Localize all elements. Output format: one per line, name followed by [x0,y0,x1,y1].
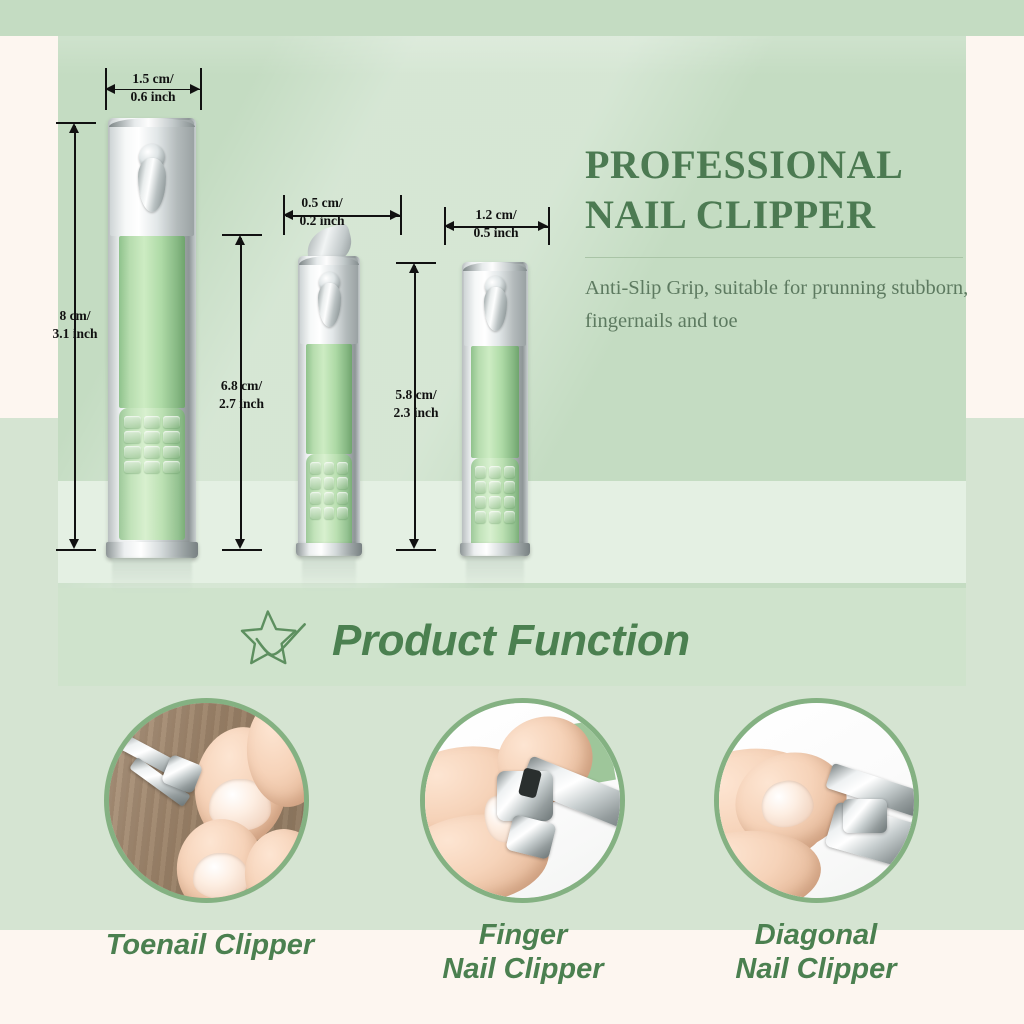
clipper-1-base [106,542,198,558]
dim3-h-line [414,266,416,544]
caption-finger-nail-clipper: Finger Nail Clipper [388,918,658,986]
title-divider [585,257,963,258]
clipper-3-grip-dots [471,466,519,523]
dim1-h-line [74,126,76,544]
photo3-clipper-head [843,799,887,833]
dim2-h-line [240,238,242,544]
dim2-h-arrow-up-icon [235,235,245,245]
dim2-w-arrow-left-icon [283,210,293,220]
clipper-1-grip-dots [119,416,185,473]
dim1-w-arrow-right-icon [190,84,200,94]
photo-diagonal-nail-clipper[interactable] [714,698,919,903]
product-function-title: Product Function [332,616,690,666]
dimension-width-label-3: 1.2 cm/ 0.5 inch [448,206,544,242]
clipper-2-reflection [302,556,356,590]
clipper-illustration-1 [108,118,196,558]
caption-diagonal-nail-clipper: Diagonal Nail Clipper [680,918,952,986]
star-check-icon [240,606,314,676]
dim1-w-tick-right [200,68,202,110]
product-function-header: Product Function [240,604,800,678]
caption-toenail-clipper: Toenail Clipper [60,928,360,962]
clipper-3-reflection [466,556,524,590]
dim1-h-tick-bottom [56,549,96,551]
clipper-1-grip-textured [119,408,185,540]
dim3-h-tick-bottom [396,549,436,551]
dim3-h-arrow-up-icon [409,263,419,273]
dim2-h-tick-bottom [222,549,262,551]
right-green-accent-lower [966,662,1024,930]
photo-finger-nail-clipper[interactable] [420,698,625,903]
dim1-w-line [108,89,200,91]
clipper-2-grip-dots [306,462,352,519]
dim1-h-arrow-down-icon [69,539,79,549]
left-green-accent-lower [0,662,58,930]
title-line-1: PROFESSIONAL [585,142,903,187]
page-title: PROFESSIONAL NAIL CLIPPER [585,140,985,241]
dim2-h-arrow-down-icon [235,539,245,549]
clipper-1-grip-upper [119,236,185,408]
right-green-accent-upper [966,418,1024,662]
top-green-band [0,0,1024,36]
clipper-2-grip-upper [306,344,352,454]
clipper-1-reflection [112,558,192,592]
photo1-toenail-3 [193,853,249,899]
dim3-w-line [447,226,548,228]
dimension-height-label-3: 5.8 cm/ 2.3 inch [368,386,464,422]
clipper-2-grip-textured [306,454,352,546]
dim2-w-tick-right [400,195,402,235]
clipper-illustration-3 [462,262,528,556]
dim3-w-arrow-right-icon [538,221,548,231]
dim1-w-arrow-left-icon [105,84,115,94]
dim3-w-arrow-left-icon [444,221,454,231]
dim2-w-line [286,215,400,217]
title-line-2: NAIL CLIPPER [585,192,876,237]
clipper-3-base [460,543,530,556]
left-green-accent-upper [0,418,58,662]
dim2-w-arrow-right-icon [390,210,400,220]
dim3-w-tick-right [548,207,550,245]
clipper-illustration-2 [298,256,360,556]
dim1-h-arrow-up-icon [69,123,79,133]
clipper-2-base [296,543,362,556]
infographic-canvas: PROFESSIONAL NAIL CLIPPER Anti-Slip Grip… [0,0,1024,1024]
clipper-3-grip-textured [471,458,519,546]
dim3-h-arrow-down-icon [409,539,419,549]
hero-headline-block: PROFESSIONAL NAIL CLIPPER Anti-Slip Grip… [585,140,985,338]
hero-subtitle: Anti-Slip Grip, suitable for prunning st… [585,272,975,338]
clipper-3-grip-upper [471,346,519,458]
photo-toenail-clipper[interactable] [104,698,309,903]
